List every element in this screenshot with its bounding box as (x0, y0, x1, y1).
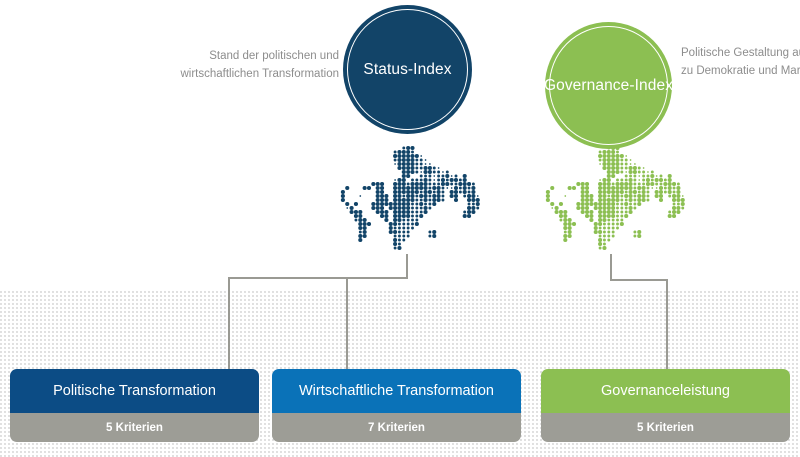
dimension-card-economic[interactable]: Wirtschaftliche Transformation 7 Kriteri… (272, 369, 521, 442)
dotted-world-map-icon-status (323, 142, 491, 252)
status-index-circle[interactable]: Status-Index (343, 5, 472, 134)
connector-status-bar (228, 277, 408, 279)
infographic-canvas: Stand der politischen und wirtschaftlich… (0, 0, 800, 457)
dimension-card-political[interactable]: Politische Transformation 5 Kriterien (10, 369, 259, 442)
connector-governance-stem (610, 254, 612, 281)
connector-to-governance-box (666, 279, 668, 373)
dimension-title-governance: Governanceleistung (541, 369, 790, 413)
governance-index-label: Governance-Index (544, 77, 673, 95)
connector-to-economic (346, 277, 348, 373)
dimension-criteria-economic: 7 Kriterien (272, 413, 521, 442)
connector-governance-bar (610, 279, 668, 281)
governance-index-description: Politische Gestaltung auf dem Weg zu Dem… (681, 44, 800, 80)
dimension-title-economic: Wirtschaftliche Transformation (272, 369, 521, 413)
connector-to-political (228, 277, 230, 373)
dimension-title-political: Politische Transformation (10, 369, 259, 413)
dimension-criteria-political: 5 Kriterien (10, 413, 259, 442)
dimension-criteria-governance: 5 Kriterien (541, 413, 790, 442)
dotted-world-map-icon-governance (528, 142, 696, 252)
dimension-card-governance[interactable]: Governanceleistung 5 Kriterien (541, 369, 790, 442)
status-index-label: Status-Index (363, 61, 451, 79)
governance-index-circle[interactable]: Governance-Index (545, 22, 672, 149)
status-index-description: Stand der politischen und wirtschaftlich… (139, 47, 339, 83)
connector-status-stem (406, 254, 408, 279)
